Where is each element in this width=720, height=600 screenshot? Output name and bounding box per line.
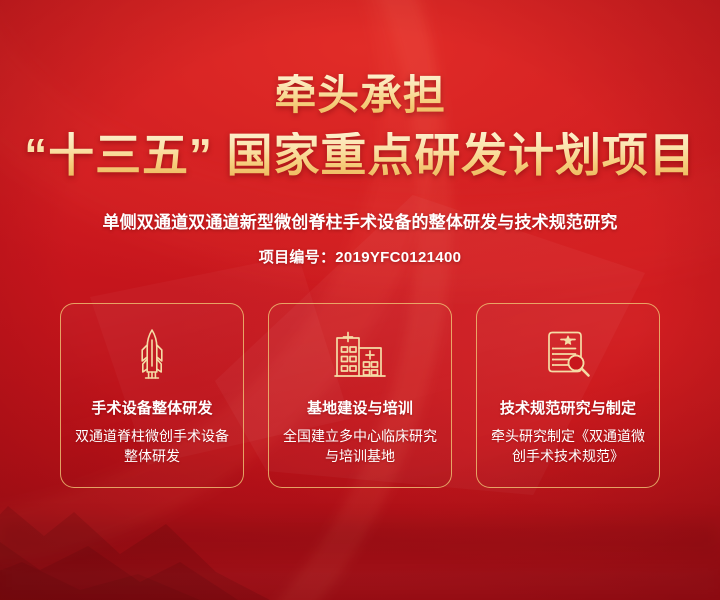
feature-card-equipment-rd[interactable]: 手术设备整体研发 双通道脊柱微创手术设备整体研发 (60, 303, 244, 488)
feature-card-description: 双通道脊柱微创手术设备整体研发 (72, 427, 232, 467)
feature-card-title: 手术设备整体研发 (91, 397, 212, 418)
page-title-line2: “十三五” 国家重点研发计划项目 (0, 132, 720, 178)
feature-card-title: 技术规范研究与制定 (500, 397, 636, 418)
feature-card-base-training[interactable]: 基地建设与培训 全国建立多中心临床研究与培训基地 (268, 303, 452, 488)
document-search-icon (543, 329, 593, 379)
feature-card-title: 基地建设与培训 (307, 397, 413, 418)
feature-card-description: 全国建立多中心临床研究与培训基地 (280, 427, 440, 467)
page-title-line1: 牵头承担 (0, 74, 720, 116)
feature-card-description: 牵头研究制定《双通道微创手术技术规范》 (488, 427, 648, 467)
feature-card-list: 手术设备整体研发 双通道脊柱微创手术设备整体研发 (0, 303, 720, 488)
background-band-upper (0, 520, 720, 554)
feature-card-tech-standard[interactable]: 技术规范研究与制定 牵头研究制定《双通道微创手术技术规范》 (476, 303, 660, 488)
poster-root: 牵头承担 “十三五” 国家重点研发计划项目 单侧双通道双通道新型微创脊柱手术设备… (0, 0, 720, 600)
hospital-icon (334, 329, 386, 379)
project-number: 项目编号：2019YFC0121400 (0, 246, 720, 267)
background-band-lower (0, 566, 720, 592)
poster-header: 牵头承担 “十三五” 国家重点研发计划项目 单侧双通道双通道新型微创脊柱手术设备… (0, 0, 720, 267)
page-subtitle: 单侧双通道双通道新型微创脊柱手术设备的整体研发与技术规范研究 (0, 208, 720, 233)
rocket-icon (135, 329, 169, 379)
